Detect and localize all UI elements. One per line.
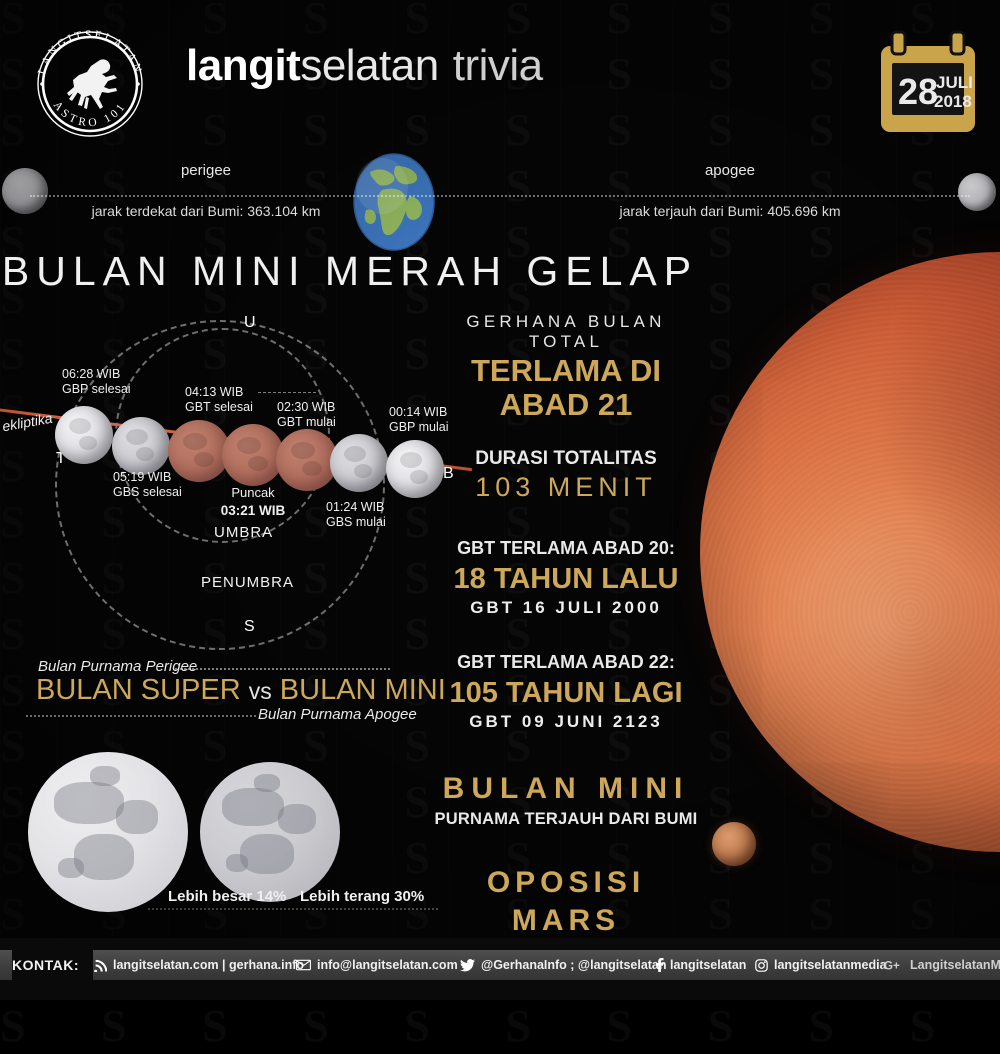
compare-headline-b: BULAN MINI bbox=[280, 674, 446, 706]
eclipse-path-diagram: U S T B ekliptika 06:28 WIB GBP selesai … bbox=[0, 300, 470, 650]
phase-label-3: 02:30 WIB GBT mulai bbox=[277, 400, 336, 430]
phase-label-0: 06:28 WIB GBP selesai bbox=[62, 367, 131, 397]
moon-stage-2 bbox=[112, 417, 170, 475]
calendar-day: 28 bbox=[898, 71, 938, 112]
brand-bold: langit bbox=[186, 41, 300, 90]
phase-event-0: GBP selesai bbox=[62, 382, 131, 396]
stat-headline: GERHANA BULAN TOTAL TERLAMA DI ABAD 21 bbox=[430, 312, 702, 422]
headline-gold: TERLAMA DI ABAD 21 bbox=[430, 354, 702, 422]
footer-item-googleplus[interactable]: G+ LangitselatanMedia bbox=[884, 950, 1000, 980]
footer-twitter-text: @GerhanaInfo ; @langitselatan bbox=[481, 950, 667, 980]
c22-label: GBT TERLAMA ABAD 22: bbox=[430, 652, 702, 673]
metric-brightness: Lebih terang 30% bbox=[300, 888, 424, 905]
supermoon-disc bbox=[28, 752, 188, 912]
instagram-icon bbox=[755, 959, 768, 972]
apogee-distance: jarak terjauh dari Bumi: 405.696 km bbox=[580, 203, 880, 219]
footer-item-facebook[interactable]: langitselatan bbox=[655, 950, 746, 980]
langitselatan-seal-logo: LANGITSELATAN ASTRO 101 bbox=[26, 20, 154, 148]
compare-bottom-label: Bulan Purnama Apogee bbox=[258, 706, 417, 723]
phase-time-3: 02:30 WIB bbox=[277, 400, 335, 414]
c20-date: GBT 16 JULI 2000 bbox=[430, 596, 702, 620]
phase-event-2: GBT selesai bbox=[185, 400, 253, 414]
footer-website-text: langitselatan.com | gerhana.info bbox=[113, 950, 304, 980]
diagram-point-south: S bbox=[244, 618, 255, 636]
phase-time-2: 04:13 WIB bbox=[185, 385, 243, 399]
brand-word: trivia bbox=[453, 41, 543, 90]
moon-stage-5-totality-start bbox=[276, 429, 338, 491]
page-title: BULAN MINI MERAH GELAP bbox=[0, 248, 700, 295]
compare-headline-vs: vs bbox=[249, 678, 272, 704]
calendar-date-badge: 28 JULI 2018 bbox=[878, 28, 978, 136]
footer-item-email[interactable]: info@langitselatan.com bbox=[296, 950, 458, 980]
brand-light: selatan bbox=[300, 41, 438, 90]
apogee-label: apogee bbox=[620, 162, 840, 179]
perigee-label: perigee bbox=[96, 162, 316, 179]
stat-duration: DURASI TOTALITAS 103 MENIT bbox=[430, 448, 702, 504]
statistics-column: GERHANA BULAN TOTAL TERLAMA DI ABAD 21 D… bbox=[430, 312, 702, 988]
footer-kontak-label: KONTAK: bbox=[12, 950, 93, 980]
umbra-label: UMBRA bbox=[214, 524, 273, 541]
rss-icon bbox=[94, 959, 107, 972]
stat-mini-moon: BULAN MINI PURNAMA TERJAUH DARI BUMI bbox=[430, 770, 702, 830]
footer-instagram-text: langitselatanmedia bbox=[774, 950, 887, 980]
calendar-year: 2018 bbox=[934, 92, 972, 111]
header: LANGITSELATAN ASTRO 101 langitselatantri… bbox=[0, 0, 1000, 150]
svg-text:G+: G+ bbox=[884, 960, 900, 972]
minimoon-title: BULAN MINI bbox=[430, 770, 702, 808]
mars-planet-icon bbox=[712, 822, 756, 866]
phase-event-4: GBS mulai bbox=[326, 515, 386, 529]
brand-title: langitselatantrivia bbox=[186, 38, 543, 94]
phase-time-0: 06:28 WIB bbox=[62, 367, 120, 381]
diagram-point-north: U bbox=[244, 314, 256, 332]
minimoon-disc bbox=[200, 762, 340, 902]
phase-time-1: 05:19 WIB bbox=[113, 470, 171, 484]
moon-stage-6 bbox=[330, 434, 388, 492]
twitter-icon bbox=[460, 959, 475, 972]
phase-event-3: GBT mulai bbox=[277, 415, 336, 429]
googleplus-icon: G+ bbox=[884, 959, 904, 972]
envelope-icon bbox=[296, 959, 311, 971]
c22-value: 105 TAHUN LAGI bbox=[430, 676, 702, 710]
phase-label-2: 04:13 WIB GBT selesai bbox=[185, 385, 253, 415]
metric-size-larger: Lebih besar 14% bbox=[168, 888, 286, 905]
c22-date: GBT 09 JUNI 2123 bbox=[430, 710, 702, 734]
compare-headline-a: BULAN SUPER bbox=[36, 674, 241, 706]
footer-contact-bar: KONTAK: langitselatan.com | gerhana.info… bbox=[0, 938, 1000, 1000]
stat-century-20: GBT TERLAMA ABAD 20: 18 TAHUN LALU GBT 1… bbox=[430, 538, 702, 620]
phase-label-1: 05:19 WIB GBS selesai bbox=[113, 470, 182, 500]
phase-event-1: GBS selesai bbox=[113, 485, 182, 499]
duration-value: 103 MENIT bbox=[430, 470, 702, 504]
duration-label: DURASI TOTALITAS bbox=[430, 448, 702, 470]
phase-connector-2 bbox=[258, 392, 316, 393]
penumbra-label: PENUMBRA bbox=[201, 574, 294, 591]
footer-item-website[interactable]: langitselatan.com | gerhana.info bbox=[94, 950, 304, 980]
moon-stage-4-peak bbox=[222, 424, 284, 486]
orbit-dotted-line bbox=[30, 195, 970, 197]
footer-googleplus-text: LangitselatanMedia bbox=[910, 950, 1000, 980]
perigee-distance: jarak terdekat dari Bumi: 363.104 km bbox=[66, 203, 346, 219]
footer-item-twitter[interactable]: @GerhanaInfo ; @langitselatan bbox=[460, 950, 667, 980]
background-pattern-row: S S S S S S S S S S S S S S S S S S S S … bbox=[0, 998, 1000, 1054]
mars-title: OPOSISI MARS bbox=[430, 864, 702, 940]
compare-bottom-dotted-rule bbox=[26, 715, 256, 717]
facebook-icon bbox=[655, 958, 664, 972]
ecliptic-label: ekliptika bbox=[1, 410, 54, 435]
orbit-distance-strip: perigee jarak terdekat dari Bumi: 363.10… bbox=[0, 150, 1000, 260]
moon-stage-1 bbox=[55, 406, 113, 464]
phase-label-4: 01:24 WIB GBS mulai bbox=[326, 500, 386, 530]
compare-top-label: Bulan Purnama Perigee bbox=[38, 658, 197, 675]
footer-facebook-text: langitselatan bbox=[670, 950, 746, 980]
phase-time-4: 01:24 WIB bbox=[326, 500, 384, 514]
minimoon-sub: PURNAMA TERJAUH DARI BUMI bbox=[430, 808, 702, 830]
calendar-month: JULI bbox=[936, 73, 973, 92]
stat-century-22: GBT TERLAMA ABAD 22: 105 TAHUN LAGI GBT … bbox=[430, 652, 702, 734]
headline-kicker: GERHANA BULAN TOTAL bbox=[430, 312, 702, 352]
peak-label: Puncak bbox=[222, 485, 284, 500]
c20-label: GBT TERLAMA ABAD 20: bbox=[430, 538, 702, 559]
svg-text:ASTRO 101: ASTRO 101 bbox=[51, 99, 129, 129]
compare-headline: BULAN SUPER vs BULAN MINI bbox=[36, 674, 446, 707]
c20-value: 18 TAHUN LALU bbox=[430, 562, 702, 596]
footer-email-text: info@langitselatan.com bbox=[317, 950, 458, 980]
peak-time: 03:21 WIB bbox=[212, 503, 294, 518]
footer-item-instagram[interactable]: langitselatanmedia bbox=[755, 950, 887, 980]
compare-top-dotted-rule bbox=[175, 668, 390, 670]
